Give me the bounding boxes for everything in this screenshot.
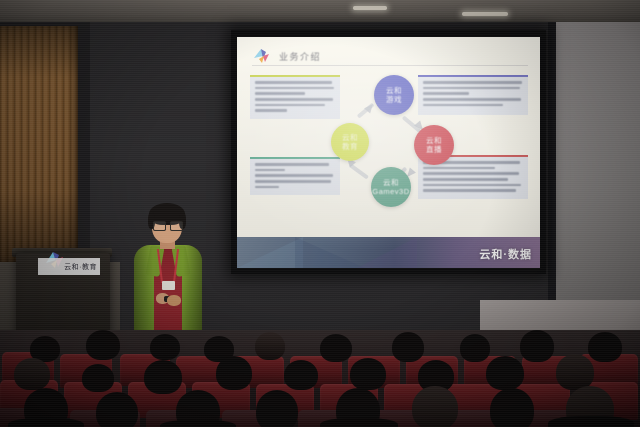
audience-head [82, 364, 114, 392]
audience-area [0, 330, 640, 427]
circle-label-line2: 游戏 [386, 95, 402, 104]
ceiling-light-icon [353, 6, 387, 10]
slide-header: 业务介绍 [252, 47, 321, 65]
presentation-photo-scene: 业务介绍 [0, 0, 640, 427]
audience-head [412, 386, 458, 427]
podium-nameplate: 云和·教育 [38, 258, 100, 275]
circle-label-line1: 云和 [383, 178, 399, 187]
audience-head [150, 334, 180, 360]
circle-node-gamev3d: 云和 Gamev3D [371, 167, 411, 207]
footer-decoration [357, 237, 417, 268]
title-divider [252, 65, 528, 66]
presenter-glasses-icon [153, 221, 181, 229]
circle-node-livestream: 云和 直播 [414, 125, 454, 165]
audience-head [96, 392, 138, 427]
circle-label-line1: 云和 [426, 136, 442, 145]
audience-head [256, 390, 298, 427]
audience-shoulders [320, 418, 398, 427]
audience-shoulders [8, 418, 84, 427]
audience-head [255, 332, 285, 360]
slide-footer-band: 云和·数据 [237, 237, 540, 268]
ceiling-light-icon [462, 12, 508, 16]
audience-head [486, 356, 524, 390]
audience-head [392, 332, 424, 362]
circle-label-line2: 直播 [426, 145, 442, 154]
audience-head [144, 360, 182, 394]
circle-node-games: 云和 游戏 [374, 75, 414, 115]
circle-label-line1: 云和 [342, 133, 358, 142]
presentation-slide: 业务介绍 [237, 37, 540, 268]
audience-shoulders [548, 416, 634, 427]
podium-plate-text: 云和·教育 [64, 262, 97, 272]
text-box-top-right [418, 75, 528, 115]
audience-shoulders [160, 420, 236, 427]
presenter-hand-right [167, 295, 181, 306]
text-box-top-left [250, 75, 340, 119]
audience-head [86, 330, 120, 360]
audience-head [320, 334, 352, 362]
presenter-badge [162, 281, 175, 290]
audience-head [588, 332, 622, 362]
slide-watermark-brand: 云和·数据 [479, 246, 532, 262]
wood-panel-shading [0, 26, 78, 262]
footer-decoration [295, 237, 365, 268]
audience-head [490, 388, 534, 427]
slide-content-area: 业务介绍 [240, 39, 537, 237]
brand-bird-icon [252, 47, 272, 65]
audience-head [350, 358, 386, 390]
audience-head [216, 356, 252, 390]
projection-screen-surface: 业务介绍 [237, 37, 540, 268]
text-box-bottom-left [250, 157, 340, 195]
circle-label-line2: Gamev3D [372, 187, 409, 196]
audience-head [284, 360, 318, 390]
audience-head [460, 334, 490, 362]
audience-head [520, 330, 554, 362]
audience-head [556, 354, 594, 390]
circle-node-education: 云和 教育 [331, 123, 369, 161]
circle-label-line2: 教育 [342, 142, 358, 151]
audience-head [14, 358, 50, 390]
slide-title: 业务介绍 [279, 50, 321, 63]
footer-decoration [237, 237, 303, 268]
circle-label-line1: 云和 [386, 86, 402, 95]
